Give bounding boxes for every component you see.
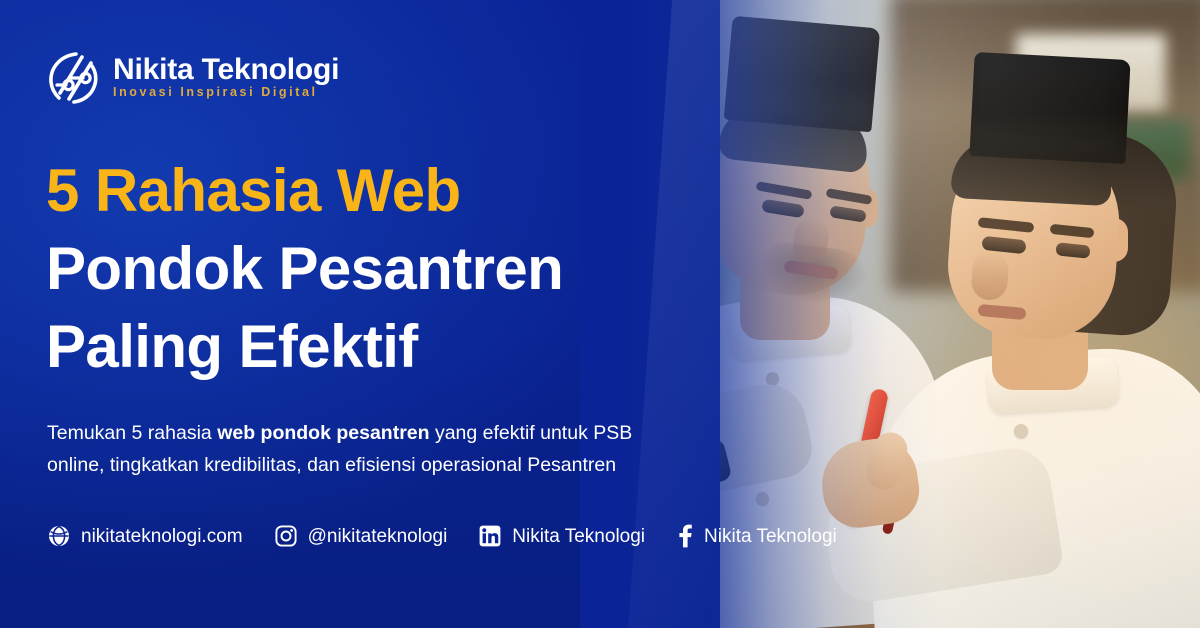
linkedin-icon	[479, 525, 501, 547]
social-link-website[interactable]: nikitateknologi.com	[48, 525, 243, 547]
promotional-banner: Nikita Teknologi Inovasi Inspirasi Digit…	[0, 0, 1200, 628]
brand-tagline: Inovasi Inspirasi Digital	[113, 86, 339, 100]
social-label-website: nikitateknologi.com	[81, 527, 243, 546]
social-link-instagram[interactable]: @nikitateknologi	[275, 525, 448, 547]
subtitle-part-1: Temukan 5 rahasia	[47, 422, 217, 444]
globe-icon	[48, 525, 70, 547]
social-link-facebook[interactable]: Nikita Teknologi	[677, 524, 837, 548]
social-label-linkedin: Nikita Teknologi	[512, 527, 645, 546]
headline-line-3: Paling Efektif	[46, 308, 706, 386]
brand-logo[interactable]: Nikita Teknologi Inovasi Inspirasi Digit…	[46, 48, 339, 106]
headline: 5 Rahasia Web Pondok Pesantren Paling Ef…	[46, 152, 706, 386]
circuit-node-logo-icon	[46, 48, 100, 106]
subtitle-keyword: web pondok pesantren	[217, 422, 429, 444]
social-label-instagram: @nikitateknologi	[308, 527, 448, 546]
social-label-facebook: Nikita Teknologi	[704, 527, 837, 546]
instagram-icon	[275, 525, 297, 547]
brand-name: Nikita Teknologi	[113, 54, 339, 86]
subtitle: Temukan 5 rahasia web pondok pesantren y…	[47, 418, 687, 481]
social-link-linkedin[interactable]: Nikita Teknologi	[479, 525, 645, 547]
facebook-icon	[677, 524, 693, 548]
headline-line-2: Pondok Pesantren	[46, 230, 706, 308]
social-links-row: nikitateknologi.com @nikitateknologi Nik…	[48, 524, 837, 548]
headline-line-1: 5 Rahasia Web	[46, 152, 706, 230]
